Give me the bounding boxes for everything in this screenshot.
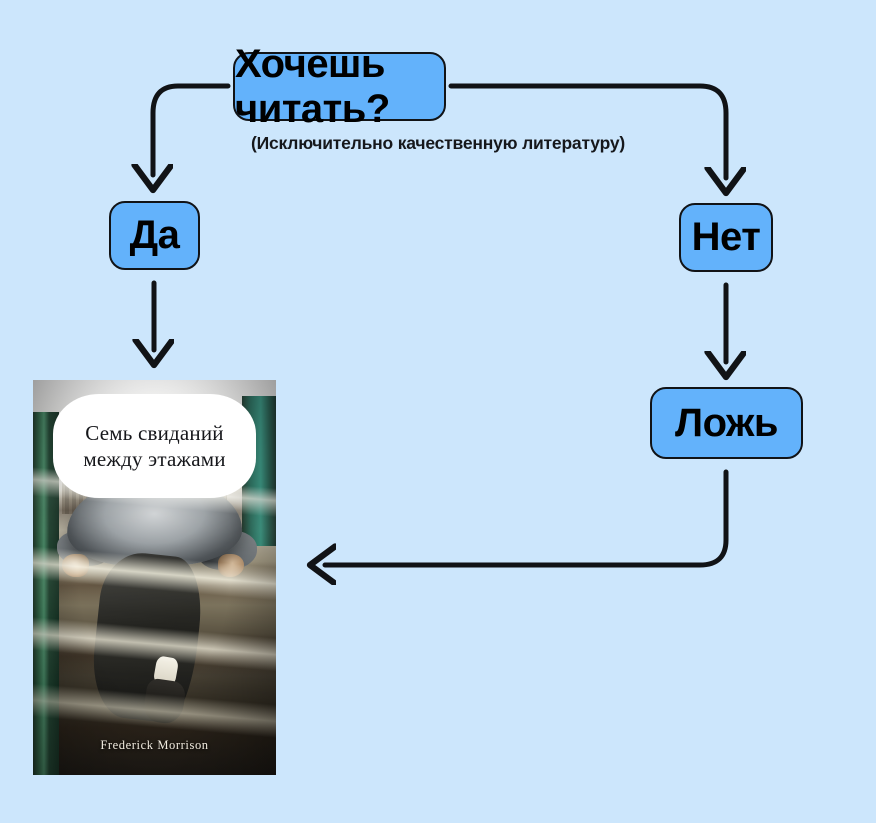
node-question[interactable]: Хочешь читать? bbox=[233, 52, 446, 121]
question-subtitle: (Исключительно качественную литературу) bbox=[0, 133, 876, 154]
node-no[interactable]: Нет bbox=[679, 203, 773, 272]
edge-question-to-no bbox=[451, 86, 726, 178]
book-title-line-1: Семь свиданий bbox=[83, 420, 225, 446]
book-title: Семь свиданий между этажами bbox=[75, 420, 233, 473]
book-author: Frederick Morrison bbox=[33, 738, 276, 753]
node-yes[interactable]: Да bbox=[109, 201, 200, 270]
flowchart-canvas: Хочешь читать? (Исключительно качественн… bbox=[0, 0, 876, 823]
node-lie[interactable]: Ложь bbox=[650, 387, 803, 459]
edge-question-to-yes bbox=[153, 86, 228, 175]
book-title-line-2: между этажами bbox=[83, 446, 225, 472]
book-title-plaque: Семь свиданий между этажами bbox=[53, 394, 256, 498]
edge-lie-to-book bbox=[325, 472, 726, 565]
book-cover-image[interactable]: Семь свиданий между этажами Frederick Mo… bbox=[33, 380, 276, 775]
